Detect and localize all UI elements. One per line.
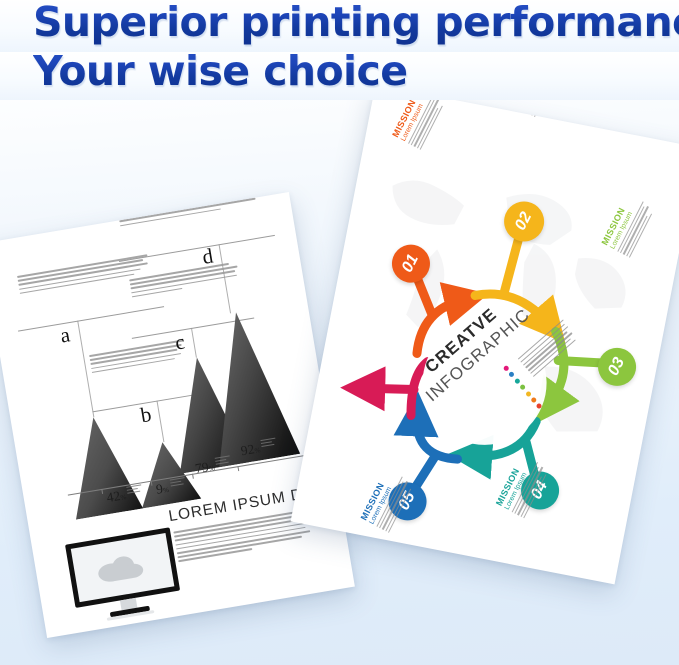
headline-line-1: Superior printing performance (33, 0, 679, 46)
chart-label-b: b (139, 404, 153, 426)
step-number-02: 02 (512, 209, 536, 233)
step-number-01: 01 (399, 252, 423, 276)
chart-sheet: a b c d (0, 192, 355, 638)
leader-b (156, 401, 164, 443)
chart-triangle-a (60, 411, 145, 519)
headline-block: Superior printing performance Your wise … (0, 0, 679, 108)
chart-label-d: d (201, 246, 215, 268)
infographic-sheet: CREATVE INFOGRAPHIC 01 02 03 (291, 85, 679, 585)
chart-label-a: a (59, 324, 72, 346)
center-label: CREATVE INFOGRAPHIC (415, 316, 560, 450)
poster-canvas: Superior printing performance Your wise … (0, 0, 679, 665)
rule-d (119, 235, 275, 262)
paragraph-d (118, 192, 261, 229)
monitor-illustration (64, 526, 186, 634)
headline-line-2: Your wise choice (33, 47, 407, 95)
rule-a (18, 306, 164, 331)
step-number-03: 03 (605, 355, 629, 379)
